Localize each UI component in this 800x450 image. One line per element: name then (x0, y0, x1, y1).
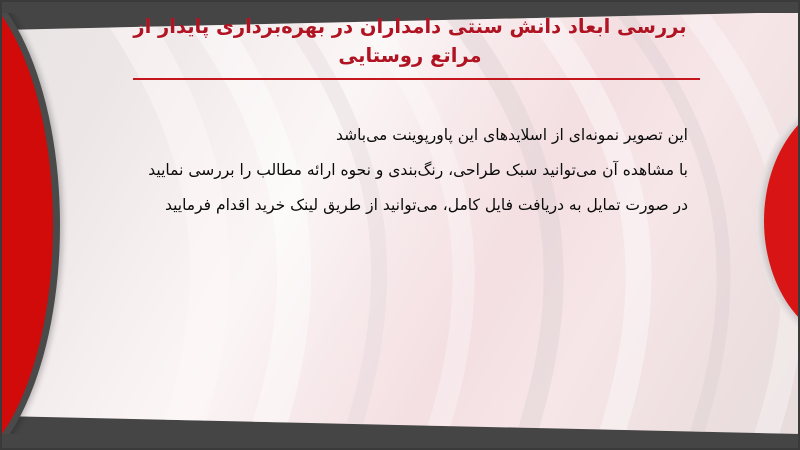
body-line-1: این تصویر نمونه‌ای از اسلایدهای این پاور… (88, 118, 688, 153)
slide-title-line-1: بررسی ابعاد دانش سنتی دامداران در بهره‌ب… (100, 12, 720, 41)
slide-title: بررسی ابعاد دانش سنتی دامداران در بهره‌ب… (100, 12, 720, 70)
slide-body: این تصویر نمونه‌ای از اسلایدهای این پاور… (88, 118, 688, 223)
presentation-slide: بررسی ابعاد دانش سنتی دامداران در بهره‌ب… (0, 0, 800, 450)
top-frame-band (0, 0, 800, 13)
slide-background-panel (0, 12, 800, 434)
body-line-3: در صورت تمایل به دریافت فایل کامل، می‌تو… (88, 188, 688, 223)
title-underline-rule (133, 78, 700, 80)
slide-title-line-2: مراتع روستایی (100, 41, 720, 70)
body-line-2: با مشاهده آن می‌توانید سبک طراحی، رنگ‌بن… (88, 153, 688, 188)
bottom-frame-band (0, 434, 800, 450)
